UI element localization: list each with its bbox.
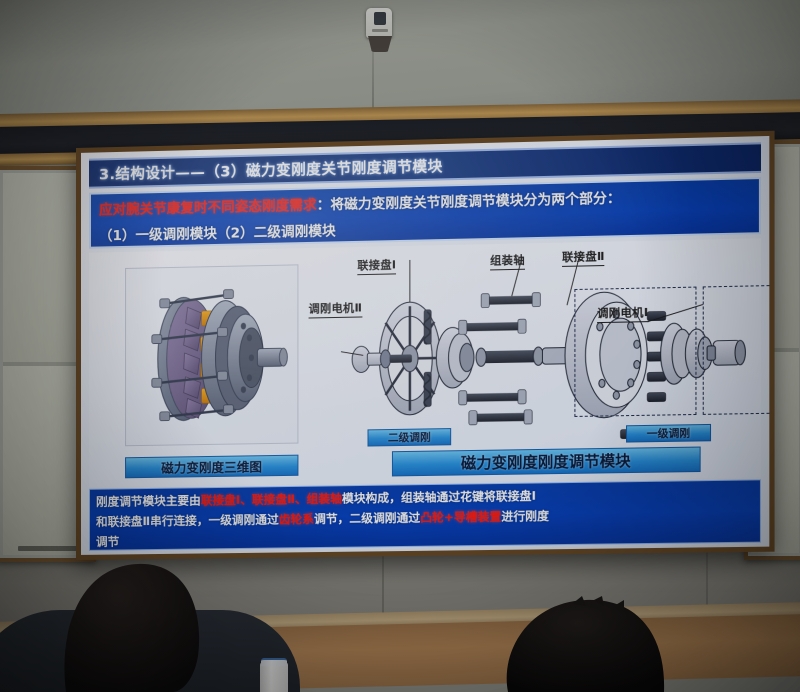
- projection-screen-frame: 3.结构设计——（3）磁力变刚度关节刚度调节模块 应对腕关节康复时不同姿态刚度需…: [76, 131, 775, 560]
- whiteboard-left-tray: [18, 546, 80, 551]
- paragraph-red-2: 齿轮系: [279, 512, 314, 527]
- paragraph-red-1: 联接盘Ⅰ、联接盘Ⅱ、组装轴: [201, 491, 342, 507]
- presentation-slide: 3.结构设计——（3）磁力变刚度关节刚度调节模块 应对腕关节康复时不同姿态刚度需…: [81, 136, 769, 555]
- magnetic-stiffness-3d-render: [125, 264, 298, 446]
- caption-stage-two: 二级调刚: [368, 428, 452, 446]
- caption-3d-render: 磁力变刚度三维图: [125, 455, 298, 479]
- paragraph-seg-1: 刚度调节模块主要由: [96, 493, 201, 508]
- render-3d-graphic: [126, 265, 297, 445]
- paragraph-seg-5: 进行刚度: [501, 509, 549, 524]
- caption-stage-one: 一级调刚: [626, 424, 711, 443]
- statement-box: 应对腕关节康复时不同姿态刚度需求：将磁力变刚度关节刚度调节模块分为两个部分： （…: [89, 177, 761, 249]
- caption-module-text: 磁力变刚度刚度调节模块: [461, 450, 631, 474]
- attendee-head-right: [486, 596, 696, 692]
- caption-3d-text: 磁力变刚度三维图: [161, 456, 262, 477]
- dashed-region-shaft: [703, 284, 770, 415]
- slide-title: 3.结构设计——（3）磁力变刚度关节刚度调节模块: [99, 155, 443, 184]
- label-motor-1: 调刚电机Ⅰ: [597, 304, 648, 323]
- thermos-bottle: [260, 655, 288, 692]
- caption-stage-two-text: 二级调刚: [388, 429, 431, 445]
- ceiling-camera-icon: [364, 8, 394, 52]
- caption-module: 磁力变刚度刚度调节模块: [392, 447, 701, 477]
- paragraph-seg-4: 调节，二级调刚通过: [314, 510, 420, 526]
- paragraph-red-3: 凸轮+导槽装置: [420, 509, 501, 524]
- label-plate-1: 联接盘Ⅰ: [357, 256, 396, 275]
- exploded-assembly-diagram: [323, 247, 753, 444]
- lecture-hall-photo: 3.结构设计——（3）磁力变刚度关节刚度调节模块 应对腕关节康复时不同姿态刚度需…: [0, 0, 800, 692]
- statement-rest: ：将磁力变刚度关节刚度调节模块分为两个部分：: [317, 190, 621, 213]
- caption-stage-one-text: 一级调刚: [647, 425, 691, 441]
- statement-highlight: 应对腕关节康复时不同姿态刚度需求: [99, 197, 317, 218]
- slide-content-panel: 调刚电机Ⅱ 联接盘Ⅰ 组装轴 联接盘Ⅱ 调刚电机Ⅰ 磁力变刚度三维图 二级调刚 …: [89, 238, 761, 487]
- paragraph-seg-3: 和联接盘Ⅱ串行连接，一级调刚通过: [96, 512, 279, 528]
- label-plate-2: 联接盘Ⅱ: [562, 248, 605, 267]
- label-assembly-shaft: 组装轴: [490, 251, 525, 270]
- paragraph-seg-2: 模块构成，组装轴通过花键将联接盘Ⅰ: [342, 489, 536, 506]
- label-motor-2: 调刚电机Ⅱ: [309, 299, 363, 318]
- description-paragraph-box: 刚度调节模块主要由联接盘Ⅰ、联接盘Ⅱ、组装轴模块构成，组装轴通过花键将联接盘Ⅰ …: [89, 479, 761, 551]
- attendee-head-left: [52, 560, 262, 692]
